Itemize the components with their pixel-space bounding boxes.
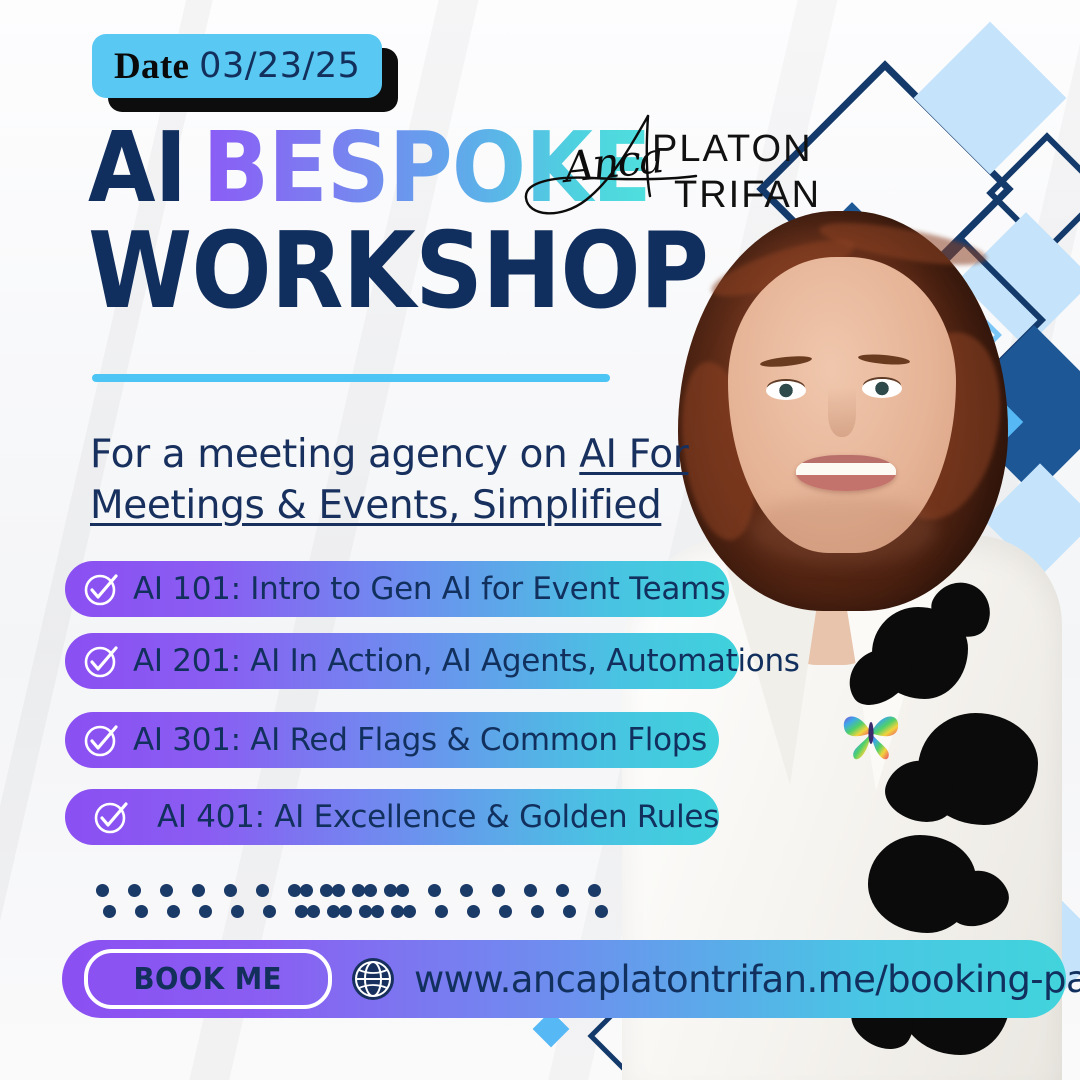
dot	[595, 905, 608, 918]
dot	[364, 884, 377, 897]
booking-bar: BOOK ME www.ancaplatontrifan.me/booking-…	[62, 940, 1066, 1018]
dot	[307, 905, 320, 918]
logo-name: PLATON TRIFAN	[652, 126, 821, 219]
check-circle-icon	[91, 797, 131, 837]
dot	[499, 905, 512, 918]
dot	[256, 884, 269, 897]
dot	[231, 905, 244, 918]
dot	[403, 905, 416, 918]
dot	[588, 884, 601, 897]
dot	[467, 905, 480, 918]
headline-underline-rule	[92, 374, 610, 382]
date-value: 03/23/25	[199, 46, 360, 86]
course-pill-label: AI 301: AI Red Flags & Common Flops	[133, 722, 707, 758]
course-pill-label: AI 201: AI In Action, AI Agents, Automat…	[133, 643, 800, 679]
dot	[371, 905, 384, 918]
dot	[428, 884, 441, 897]
dot	[103, 905, 116, 918]
headline-line-1: AI BESPOKE	[88, 122, 592, 213]
dot-pattern-group-2	[300, 884, 608, 918]
dot	[492, 884, 505, 897]
check-circle-icon	[81, 720, 121, 760]
jaw-shadow	[750, 495, 936, 565]
check-circle-icon	[81, 569, 121, 609]
course-pill-3[interactable]: AI 301: AI Red Flags & Common Flops	[65, 712, 719, 768]
dot	[224, 884, 237, 897]
subtitle-lead: For a meeting agency on	[90, 432, 579, 477]
dot	[135, 905, 148, 918]
nose	[828, 387, 856, 437]
dot	[300, 884, 313, 897]
dot	[563, 905, 576, 918]
brand-logo: Anca PLATON TRIFAN	[520, 104, 820, 234]
dot	[263, 905, 276, 918]
dot	[160, 884, 173, 897]
course-pill-2[interactable]: AI 201: AI In Action, AI Agents, Automat…	[65, 633, 739, 689]
dot	[339, 905, 352, 918]
course-pill-4[interactable]: AI 401: AI Excellence & Golden Rules	[65, 789, 719, 845]
check-circle-icon	[81, 641, 121, 681]
dot	[96, 884, 109, 897]
date-badge: Date 03/23/25	[92, 34, 382, 98]
course-pill-label: AI 401: AI Excellence & Golden Rules	[157, 799, 719, 835]
dot	[524, 884, 537, 897]
dot	[396, 884, 409, 897]
logo-name-line-1: PLATON	[652, 126, 821, 172]
butterfly-pin-icon	[838, 705, 904, 763]
dot	[435, 905, 448, 918]
subtitle: For a meeting agency on AI For Meetings …	[90, 430, 690, 531]
dot	[192, 884, 205, 897]
dot	[128, 884, 141, 897]
headline-workshop: WORKSHOP	[88, 219, 592, 324]
logo-name-line-2: TRIFAN	[674, 172, 821, 218]
dot	[460, 884, 473, 897]
course-pill-label: AI 101: Intro to Gen AI for Event Teams	[133, 571, 726, 607]
eye-left	[766, 381, 806, 400]
poster-canvas: Date 03/23/25 AI BESPOKE WORKSHOP Anca P…	[0, 0, 1080, 1080]
diamond-light-1	[914, 22, 1067, 175]
dot	[199, 905, 212, 918]
mouth	[796, 455, 896, 491]
date-label: Date	[114, 45, 189, 88]
booking-url[interactable]: www.ancaplatontrifan.me/booking-page/	[414, 958, 1080, 1001]
book-me-label: BOOK ME	[134, 962, 283, 997]
course-pill-1[interactable]: AI 101: Intro to Gen AI for Event Teams	[65, 561, 729, 617]
headline-ai: AI	[88, 122, 186, 213]
eye-right	[862, 379, 902, 398]
book-me-button[interactable]: BOOK ME	[84, 949, 332, 1009]
logo-script-name: Anca	[562, 133, 665, 192]
dot	[556, 884, 569, 897]
dot	[531, 905, 544, 918]
dot	[332, 884, 345, 897]
globe-icon	[350, 956, 396, 1002]
dot	[167, 905, 180, 918]
